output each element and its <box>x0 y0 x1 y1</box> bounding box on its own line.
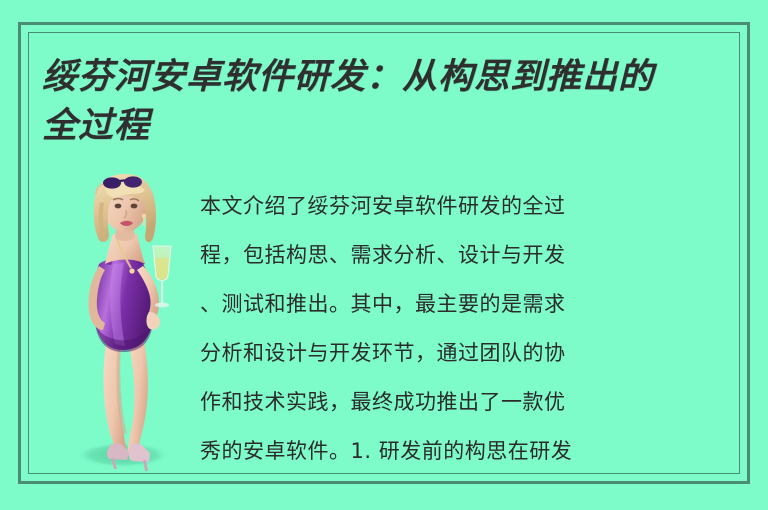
page-title: 绥芬河安卓软件研发：从构思到推出的 全过程 <box>42 52 732 150</box>
glass-base <box>155 303 169 308</box>
poster-canvas: 绥芬河安卓软件研发：从构思到推出的 全过程 <box>0 0 768 510</box>
sunglasses-right-lens <box>124 176 142 187</box>
left-leg-shape <box>103 337 127 453</box>
glass-stem <box>161 280 163 304</box>
woman-in-purple-dress-illustration <box>55 172 205 477</box>
article-summary-text: 本文介绍了绥芬河安卓软件研发的全过 程，包括构思、需求分析、设计与开发 、测试和… <box>200 182 740 476</box>
right-eye <box>131 204 138 209</box>
earring-icon <box>142 214 146 218</box>
necklace-pendant <box>129 268 134 273</box>
sunglasses-left-lens <box>103 177 121 188</box>
right-leg-shape <box>127 335 148 453</box>
right-hand-shape <box>146 312 160 330</box>
left-eye <box>115 204 122 209</box>
